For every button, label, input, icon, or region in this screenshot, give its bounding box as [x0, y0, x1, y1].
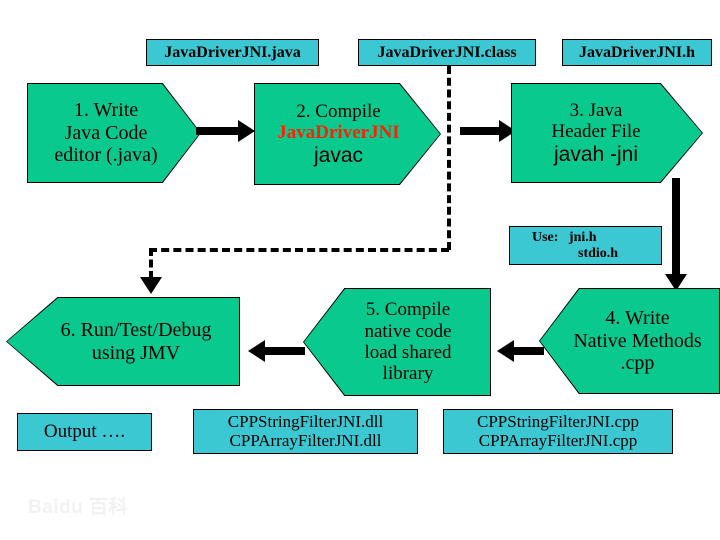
artifact-label-text: JavaDriverJNI.java [164, 44, 300, 61]
step-6-line-2: using JMV [92, 342, 180, 364]
artifact-label-java-class: JavaDriverJNI.class [358, 39, 536, 66]
note-use-line-1: Use: jni.h [532, 230, 597, 245]
cpp-label-line-2: CPPArrayFilterJNI.cpp [479, 432, 638, 450]
step-2-line-1: 2. Compile [296, 101, 380, 122]
step-1-line-1: 1. Write [74, 99, 138, 121]
step-2-line-2: JavaDriverJNI [277, 122, 399, 143]
artifact-label-java-source: JavaDriverJNI.java [146, 39, 319, 66]
dashed-connector-vertical-from-class [447, 66, 451, 250]
dashed-connector-arrowhead [140, 277, 162, 294]
dll-label-line-2: CPPArrayFilterJNI.dll [230, 432, 382, 450]
dashed-connector-vertical-to-step6 [149, 248, 153, 279]
note-use-line-2: stdio.h [532, 246, 618, 261]
output-label-dll-files: CPPStringFilterJNI.dll CPPArrayFilterJNI… [193, 409, 418, 454]
arrow-step1-to-step2-head [238, 120, 255, 142]
note-use-headers: Use: jni.h stdio.h [509, 226, 662, 265]
cpp-label-line-1: CPPStringFilterJNI.cpp [477, 413, 639, 431]
step-3-line-1: 3. Java [570, 100, 623, 121]
arrow-step1-to-step2-shaft [196, 127, 238, 135]
arrow-step2-to-step3-shaft [460, 127, 499, 135]
artifact-label-text: JavaDriverJNI.h [579, 44, 695, 61]
artifact-label-text: JavaDriverJNI.class [377, 44, 516, 61]
step-3-line-3: javah -jni [554, 143, 638, 167]
arrow-step4-to-step5-shaft [514, 347, 544, 355]
step-6-line-1: 6. Run/Test/Debug [61, 319, 212, 341]
output-label-line-1: Output …. [44, 422, 125, 443]
arrow-step3-to-step4-shaft [672, 178, 680, 274]
step-5-line-4: library [383, 363, 434, 384]
arrow-step5-to-step6-head [248, 340, 265, 362]
step-4-line-1: 4. Write [605, 307, 669, 329]
dll-label-line-1: CPPStringFilterJNI.dll [228, 413, 383, 431]
output-label-output: Output …. [17, 413, 152, 451]
step-5-line-1: 5. Compile [366, 299, 450, 320]
arrow-step5-to-step6-shaft [265, 347, 305, 355]
diagram-canvas: JavaDriverJNI.java JavaDriverJNI.class J… [0, 0, 720, 540]
step-3-line-2: Header File [551, 121, 640, 142]
dashed-connector-horizontal [149, 248, 449, 252]
step-1-line-3: editor (.java) [54, 144, 157, 166]
arrow-step4-to-step5-head [497, 340, 514, 362]
baidu-watermark: Baidu 百科 [28, 492, 128, 519]
step-2-line-3: javac [314, 144, 363, 168]
step-5-line-2: native code [364, 321, 451, 342]
step-4-line-3: .cpp [621, 352, 655, 374]
step-1-line-2: Java Code [65, 122, 148, 144]
output-label-cpp-files: CPPStringFilterJNI.cpp CPPArrayFilterJNI… [443, 409, 673, 454]
step-5-line-3: load shared [364, 342, 451, 363]
step-4-line-2: Native Methods [573, 330, 701, 352]
artifact-label-java-header: JavaDriverJNI.h [562, 39, 712, 66]
